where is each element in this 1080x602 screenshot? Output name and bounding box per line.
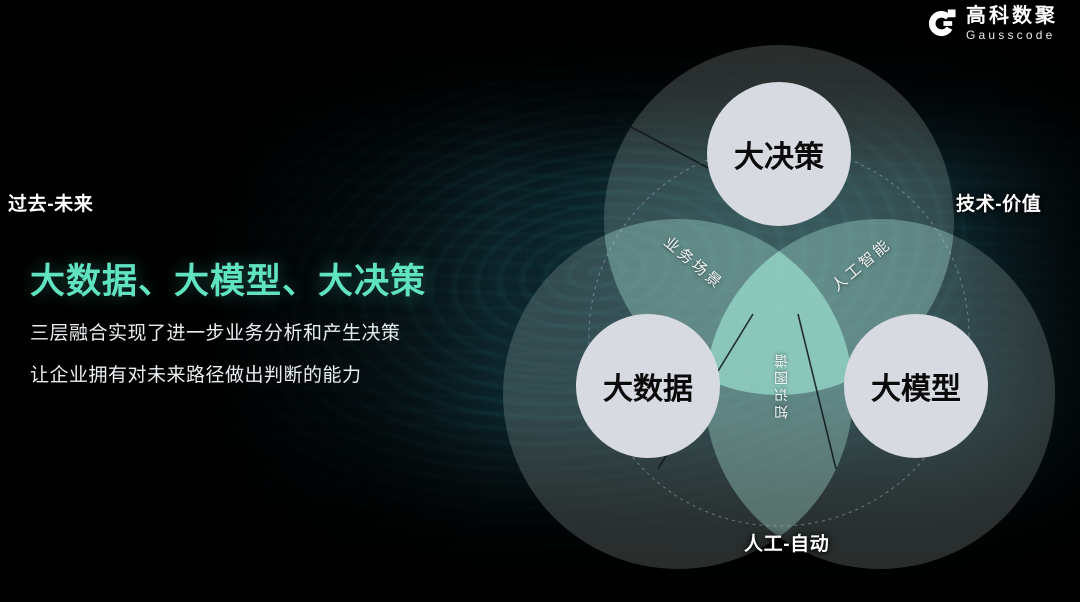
subtitle-line-1: 三层融合实现了进一步业务分析和产生决策 bbox=[30, 322, 500, 346]
axis-label-bottom: 人工-自动 bbox=[744, 529, 829, 556]
venn-core-label-right: 大模型 bbox=[871, 364, 961, 408]
venn-core-label-top: 大决策 bbox=[734, 132, 824, 176]
venn-intersection-label-center: 知识图谱 bbox=[771, 351, 791, 419]
venn-diagram: 大决策 大数据 大模型 业务场景 人工智能 知识图谱 bbox=[498, 14, 1060, 574]
subtitle-line-2: 让企业拥有对未来路径做出判断的能力 bbox=[30, 364, 500, 388]
axis-label-right: 技术-价值 bbox=[956, 189, 1041, 216]
axis-label-left: 过去-未来 bbox=[8, 189, 93, 216]
slide-canvas: 高科数聚 Gausscode 大数据、大模型、大决策 三层融合实现了进一步业务分… bbox=[0, 0, 1080, 602]
copy-block: 大数据、大模型、大决策 三层融合实现了进一步业务分析和产生决策 让企业拥有对未来… bbox=[30, 253, 500, 388]
venn-shapes bbox=[498, 14, 1060, 574]
venn-core-label-left: 大数据 bbox=[603, 364, 693, 408]
page-title: 大数据、大模型、大决策 bbox=[30, 253, 500, 304]
